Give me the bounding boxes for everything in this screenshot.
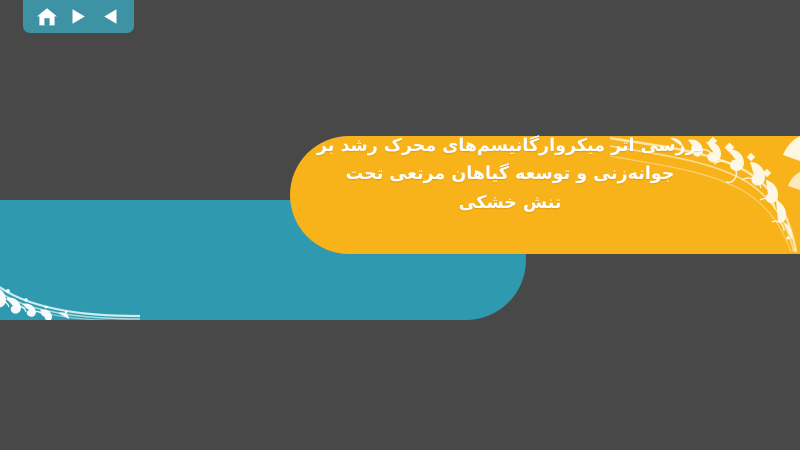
previous-slide-button[interactable]	[97, 5, 123, 29]
title-line-1: بررسی اثر میکروارگانیسم‌های محرک رشد بر	[300, 132, 720, 160]
home-button[interactable]	[34, 5, 60, 29]
title-line-2: جوانه‌زنی و توسعه گیاهان مرتعی تحت	[300, 160, 720, 188]
navigation-bar	[23, 0, 134, 33]
home-icon	[36, 7, 58, 27]
teal-arabesque-ornament	[0, 228, 140, 320]
triangle-left-icon	[103, 8, 118, 25]
title-line-3: تنش خشکی	[300, 189, 720, 217]
page-title: بررسی اثر میکروارگانیسم‌های محرک رشد بر …	[300, 132, 720, 217]
next-slide-button[interactable]	[66, 5, 92, 29]
title-slide: بررسی اثر میکروارگانیسم‌های محرک رشد بر …	[0, 0, 800, 450]
triangle-right-icon	[71, 8, 86, 25]
